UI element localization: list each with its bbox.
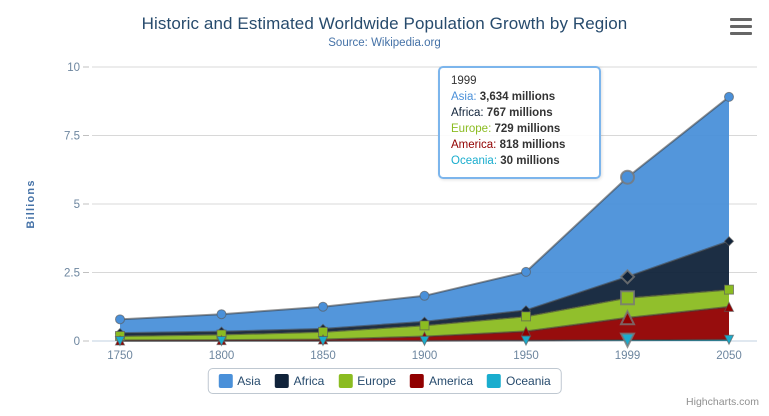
legend-swatch-icon <box>487 374 501 388</box>
tooltip-series-name: Oceania: <box>451 155 500 167</box>
tooltip-header: 1999 <box>451 75 589 87</box>
tooltip-series-value: 30 millions <box>500 155 559 167</box>
x-axis-tick-label: 1750 <box>107 350 133 362</box>
legend-item-label: Africa <box>294 374 325 388</box>
legend-item-oceania[interactable]: Oceania <box>487 374 551 388</box>
y-axis-title: Billions <box>25 179 37 228</box>
legend-swatch-icon <box>410 374 424 388</box>
tooltip-row: America: 818 millions <box>451 137 589 153</box>
x-axis-tick-label: 1900 <box>412 350 438 362</box>
chart-tooltip: 1999 Asia: 3,634 millionsAfrica: 767 mil… <box>438 66 601 179</box>
data-point-europe[interactable] <box>420 321 429 330</box>
legend-swatch-icon <box>218 374 232 388</box>
plot-area: 02.557.510Billions1750180018501900195019… <box>0 0 769 416</box>
data-point-europe[interactable] <box>725 285 734 294</box>
tooltip-series-name: Asia: <box>451 91 480 103</box>
data-point-asia[interactable] <box>420 291 429 300</box>
y-axis-tick-label: 10 <box>67 62 80 74</box>
x-axis-tick-label: 1850 <box>310 350 336 362</box>
tooltip-rows: Asia: 3,634 millionsAfrica: 767 millions… <box>451 89 589 169</box>
highcharts-container: Historic and Estimated Worldwide Populat… <box>0 0 769 416</box>
x-axis-tick-label: 2050 <box>716 350 742 362</box>
x-axis-tick-label: 1950 <box>513 350 539 362</box>
tooltip-series-value: 3,634 millions <box>480 91 555 103</box>
legend-swatch-icon <box>338 374 352 388</box>
x-axis-tick-label: 1800 <box>209 350 235 362</box>
legend-item-asia[interactable]: Asia <box>218 374 260 388</box>
y-axis-tick-label: 7.5 <box>64 131 80 143</box>
tooltip-series-value: 729 millions <box>494 123 560 135</box>
tooltip-row: Europe: 729 millions <box>451 121 589 137</box>
x-axis-tick-label: 1999 <box>615 350 641 362</box>
data-point-asia[interactable] <box>116 315 125 324</box>
legend-item-africa[interactable]: Africa <box>275 374 325 388</box>
tooltip-series-name: Africa: <box>451 107 487 119</box>
data-point-asia[interactable] <box>522 267 531 276</box>
legend-item-europe[interactable]: Europe <box>338 374 396 388</box>
legend-item-label: Oceania <box>506 374 551 388</box>
y-axis-tick-label: 0 <box>74 336 80 348</box>
legend-item-label: Europe <box>357 374 396 388</box>
y-axis-tick-label: 5 <box>74 199 80 211</box>
tooltip-series-value: 767 millions <box>487 107 553 119</box>
tooltip-series-name: America: <box>451 139 500 151</box>
legend-item-label: Asia <box>237 374 260 388</box>
tooltip-series-name: Europe: <box>451 123 494 135</box>
tooltip-row: Africa: 767 millions <box>451 105 589 121</box>
data-point-highlighted-asia[interactable] <box>621 171 634 184</box>
data-point-europe[interactable] <box>522 312 531 321</box>
tooltip-row: Asia: 3,634 millions <box>451 89 589 105</box>
tooltip-series-value: 818 millions <box>500 139 566 151</box>
legend-swatch-icon <box>275 374 289 388</box>
data-point-asia[interactable] <box>217 310 226 319</box>
legend-item-america[interactable]: America <box>410 374 473 388</box>
data-point-highlighted-europe[interactable] <box>621 291 634 304</box>
tooltip-row: Oceania: 30 millions <box>451 153 589 169</box>
data-point-asia[interactable] <box>725 92 734 101</box>
y-axis-tick-label: 2.5 <box>64 268 80 280</box>
highcharts-credit[interactable]: Highcharts.com <box>686 396 759 408</box>
chart-legend: AsiaAfricaEuropeAmericaOceania <box>207 368 561 394</box>
legend-item-label: America <box>429 374 473 388</box>
data-point-asia[interactable] <box>319 302 328 311</box>
